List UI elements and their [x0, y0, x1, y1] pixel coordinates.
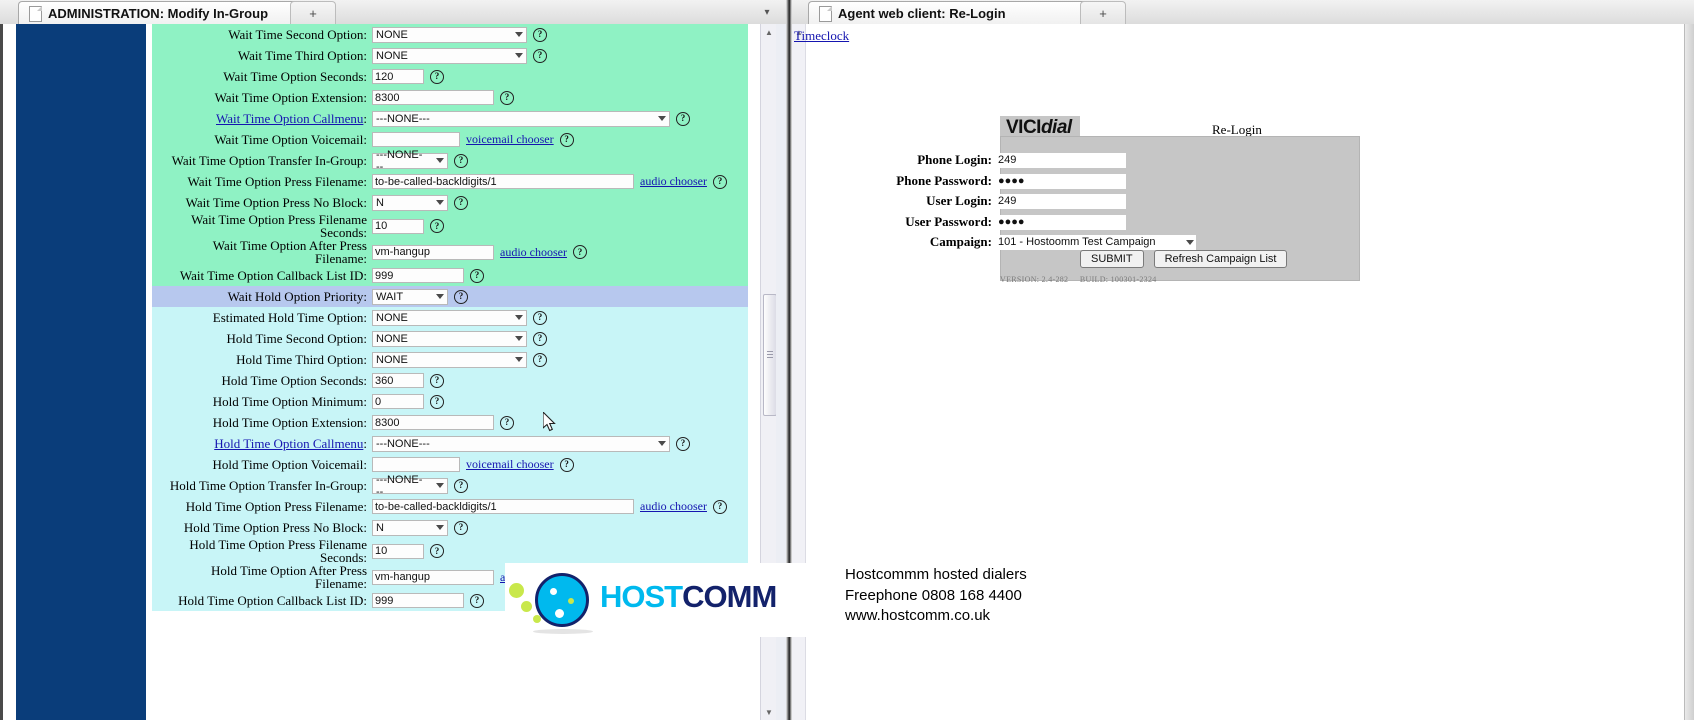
plus-icon: +	[309, 6, 317, 21]
form-row: Wait Time Option Seconds:?	[152, 66, 748, 87]
field-control: ---NONE---?	[372, 153, 748, 169]
audio-chooser-link[interactable]: audio chooser	[500, 245, 567, 260]
window-left-edge	[0, 24, 16, 720]
wordmark-host: HOST	[600, 579, 682, 614]
chevron-down-icon	[436, 483, 444, 488]
field-control: voicemail chooser?	[372, 457, 748, 472]
form-row: Wait Time Option Press Filename:audio ch…	[152, 171, 748, 192]
audio-chooser-link[interactable]: audio chooser	[640, 174, 707, 189]
chevron-down-icon	[515, 315, 523, 320]
help-icon[interactable]: ?	[500, 91, 514, 105]
field-label: Hold Time Second Option:	[152, 332, 372, 346]
help-icon[interactable]: ?	[470, 594, 484, 608]
select-hold-time-third-option[interactable]: NONE	[372, 352, 527, 368]
tab-title: Agent web client: Re-Login	[838, 6, 1006, 21]
field-label: Hold Time Option Press FilenameSeconds:	[152, 538, 372, 564]
in-group-settings-form: Wait Time Second Option:NONE?Wait Time T…	[152, 24, 760, 611]
help-icon[interactable]: ?	[454, 196, 468, 210]
field-control: voicemail chooser?	[372, 132, 748, 147]
field-control: NONE?	[372, 352, 748, 368]
window-right-edge	[1684, 24, 1694, 720]
input-hold-time-option-voicemail[interactable]	[372, 457, 460, 472]
help-icon[interactable]: ?	[560, 458, 574, 472]
relogin-field-row: Phone Login:249	[792, 152, 1126, 168]
field-label[interactable]: Hold Time Option Callmenu:	[152, 437, 372, 451]
form-row: Hold Time Option Minimum:?	[152, 391, 748, 412]
relogin-field-row: User Login:249	[792, 193, 1126, 209]
logo-sphere-icon	[535, 573, 589, 627]
select-hold-time-option-callmenu[interactable]: ---NONE---	[372, 436, 670, 452]
page-icon	[29, 6, 42, 22]
field-label: Wait Time Option Callback List ID:	[152, 269, 372, 283]
field-label[interactable]: Wait Time Option Callmenu:	[152, 112, 372, 126]
input-hold-time-option-press-filename-seconds[interactable]	[372, 544, 424, 559]
field-label: Hold Time Option After PressFilename:	[152, 564, 372, 590]
form-row: Hold Time Option Press Filename:audio ch…	[152, 496, 748, 517]
field-label: Wait Time Third Option:	[152, 49, 372, 63]
field-control: ---NONE---?	[372, 111, 748, 127]
tab-overflow-icon[interactable]: ▾	[758, 4, 776, 20]
field-control: ?	[372, 90, 748, 105]
field-label: Hold Time Option Extension:	[152, 416, 372, 430]
relogin-field-row: Phone Password:●●●●	[792, 173, 1126, 189]
field-label: Hold Time Option Callback List ID:	[152, 594, 372, 608]
field-control: ?	[372, 544, 748, 559]
field-control: NONE?	[372, 331, 748, 347]
select-value: N	[376, 197, 394, 209]
field-control: ---NONE---?	[372, 436, 748, 452]
promo-line-1: Hostcommm hosted dialers	[845, 565, 1027, 586]
field-control: N?	[372, 520, 748, 536]
voicemail-chooser-link[interactable]: voicemail chooser	[466, 457, 554, 472]
chevron-down-icon	[436, 525, 444, 530]
select-wait-time-second-option[interactable]: NONE	[372, 27, 527, 43]
field-label: Wait Time Option Transfer In-Group:	[152, 154, 372, 168]
audio-chooser-link[interactable]: audio chooser	[640, 499, 707, 514]
field-label: Phone Password:	[792, 173, 996, 189]
input-hold-time-option-after-press-filename[interactable]	[372, 570, 494, 585]
help-icon[interactable]: ?	[430, 395, 444, 409]
form-row: Wait Time Option After PressFilename:aud…	[152, 239, 748, 265]
voicemail-chooser-link[interactable]: voicemail chooser	[466, 132, 554, 147]
input-wait-time-option-press-filename[interactable]	[372, 174, 634, 189]
promo-contact-text: Hostcommm hosted dialers Freephone 0808 …	[845, 565, 1027, 627]
form-row: Wait Time Option Press No Block:N?	[152, 192, 748, 213]
screen-root: ADMINISTRATION: Modify In-Group + ▾ Agen…	[0, 0, 1694, 720]
help-icon[interactable]: ?	[533, 28, 547, 42]
form-row: Wait Time Option Extension:?	[152, 87, 748, 108]
input-user-login[interactable]: 249	[996, 194, 1126, 209]
field-control: ?	[372, 415, 748, 430]
help-icon[interactable]: ?	[470, 269, 484, 283]
help-icon[interactable]: ?	[454, 521, 468, 535]
wordmark-comm: COMM	[682, 579, 776, 614]
tabstrip-filler	[1128, 1, 1674, 23]
select-value: NONE	[376, 312, 418, 324]
select-hold-time-option-transfer-in-group[interactable]: ---NONE---	[372, 478, 448, 494]
select-value: ---NONE---	[376, 113, 440, 125]
select-hold-time-second-option[interactable]: NONE	[372, 331, 527, 347]
input-wait-time-option-voicemail[interactable]	[372, 132, 460, 147]
tab-administration[interactable]: ADMINISTRATION: Modify In-Group	[18, 1, 308, 25]
form-row: Hold Time Option Transfer In-Group:---NO…	[152, 475, 748, 496]
chevron-down-icon	[436, 294, 444, 299]
field-label: Hold Time Option Press No Block:	[152, 521, 372, 535]
chevron-down-icon	[515, 357, 523, 362]
field-label: Hold Time Option Voicemail:	[152, 458, 372, 472]
field-label: Wait Time Option Voicemail:	[152, 133, 372, 147]
chevron-down-icon	[436, 158, 444, 163]
select-wait-time-option-press-no-block[interactable]: N	[372, 195, 448, 211]
tab-agent-web-client[interactable]: Agent web client: Re-Login	[808, 1, 1098, 25]
help-icon[interactable]: ?	[676, 437, 690, 451]
field-label: Wait Time Option Press FilenameSeconds:	[152, 213, 372, 239]
form-row: Hold Time Option Press No Block:N?	[152, 517, 748, 538]
select-wait-time-option-transfer-in-group[interactable]: ---NONE---	[372, 153, 448, 169]
field-label: Wait Time Option Press Filename:	[152, 175, 372, 189]
select-estimated-hold-time-option[interactable]: NONE	[372, 310, 527, 326]
field-label: Wait Time Option Seconds:	[152, 70, 372, 84]
field-label: Wait Time Second Option:	[152, 28, 372, 42]
help-icon[interactable]: ?	[573, 245, 587, 259]
form-row: Wait Time Option Callmenu:---NONE---?	[152, 108, 748, 129]
relogin-button-row: SUBMIT Refresh Campaign List	[1080, 250, 1287, 268]
field-label: User Password:	[792, 214, 996, 230]
relogin-field-row: Campaign:101 - Hostoomm Test Campaign	[792, 234, 1196, 250]
form-row: Hold Time Option Extension:?	[152, 412, 748, 433]
field-control: ?	[372, 69, 748, 84]
field-label: Hold Time Option Press Filename:	[152, 500, 372, 514]
select-value: ---NONE---	[376, 474, 436, 498]
chevron-down-icon	[658, 441, 666, 446]
logo-dial: dial	[1041, 117, 1072, 138]
field-label: Hold Time Option Seconds:	[152, 374, 372, 388]
field-control: NONE?	[372, 27, 748, 43]
form-row: Hold Time Option Voicemail:voicemail cho…	[152, 454, 748, 475]
select-value: NONE	[376, 29, 418, 41]
input-hold-time-option-seconds[interactable]	[372, 373, 424, 388]
field-label: Phone Login:	[792, 152, 996, 168]
form-row: Wait Hold Option Priority:WAIT?	[152, 286, 748, 307]
select-value: NONE	[376, 354, 418, 366]
form-row: Estimated Hold Time Option:NONE?	[152, 307, 748, 328]
logo-dot-large	[509, 583, 524, 598]
sphere-highlight-3	[555, 609, 564, 618]
field-label: Wait Hold Option Priority:	[152, 290, 372, 304]
chevron-down-icon	[436, 200, 444, 205]
help-icon[interactable]: ?	[430, 374, 444, 388]
campaign-select[interactable]: 101 - Hostoomm Test Campaign	[996, 235, 1196, 250]
form-row: Hold Time Third Option:NONE?	[152, 349, 748, 370]
select-value: NONE	[376, 50, 418, 62]
field-control: NONE?	[372, 48, 748, 64]
field-control: NONE?	[372, 310, 748, 326]
chevron-down-icon	[515, 336, 523, 341]
field-label: Hold Time Option Transfer In-Group:	[152, 479, 372, 493]
input-hold-time-option-press-filename[interactable]	[372, 499, 634, 514]
field-label: Campaign:	[792, 234, 996, 250]
logo-dot-medium	[521, 601, 532, 612]
select-wait-time-third-option[interactable]: NONE	[372, 48, 527, 64]
hostcomm-wordmark: HOSTCOMM	[600, 581, 776, 612]
field-control: WAIT?	[372, 289, 748, 305]
field-label: Hold Time Third Option:	[152, 353, 372, 367]
input-phone-login[interactable]: 249	[996, 153, 1126, 168]
field-control: audio chooser?	[372, 499, 748, 514]
browser-tabstrip: ADMINISTRATION: Modify In-Group + ▾ Agen…	[0, 0, 1694, 25]
help-icon[interactable]: ?	[560, 133, 574, 147]
field-label: Hold Time Option Minimum:	[152, 395, 372, 409]
page-icon	[819, 6, 832, 22]
promo-line-3: www.hostcomm.co.uk	[845, 606, 1027, 627]
select-value: N	[376, 522, 394, 534]
select-wait-time-option-callmenu[interactable]: ---NONE---	[372, 111, 670, 127]
form-row: Wait Time Third Option:NONE?	[152, 45, 748, 66]
input-hold-time-option-minimum[interactable]	[372, 394, 424, 409]
field-control: ?	[372, 268, 748, 283]
input-hold-time-option-extension[interactable]	[372, 415, 494, 430]
select-wait-hold-option-priority[interactable]: WAIT	[372, 289, 448, 305]
scrollbar-thumb[interactable]	[763, 294, 777, 416]
form-row: Wait Time Second Option:NONE?	[152, 24, 748, 45]
input-wait-time-option-callback-list-id[interactable]	[372, 268, 464, 283]
relogin-field-row: User Password:●●●●	[792, 214, 1126, 230]
help-icon[interactable]: ?	[454, 290, 468, 304]
help-icon[interactable]: ?	[533, 332, 547, 346]
field-control: ?	[372, 373, 748, 388]
select-value: NONE	[376, 333, 418, 345]
form-row: Hold Time Second Option:NONE?	[152, 328, 748, 349]
form-row: Wait Time Option Callback List ID:?	[152, 265, 748, 286]
chevron-down-icon	[515, 53, 523, 58]
help-icon[interactable]: ?	[454, 479, 468, 493]
admin-nav-column	[16, 24, 146, 720]
help-icon[interactable]: ?	[533, 49, 547, 63]
help-icon[interactable]: ?	[533, 311, 547, 325]
logo-shadow	[533, 629, 593, 634]
mouse-cursor	[543, 412, 559, 434]
field-control: ---NONE---?	[372, 478, 748, 494]
help-icon[interactable]: ?	[430, 219, 444, 233]
new-tab-button-left[interactable]: +	[290, 1, 336, 25]
submit-button[interactable]: SUBMIT	[1080, 250, 1144, 268]
select-hold-time-option-press-no-block[interactable]: N	[372, 520, 448, 536]
help-icon[interactable]: ?	[713, 175, 727, 189]
form-row: Hold Time Option Press FilenameSeconds:?	[152, 538, 748, 564]
chevron-down-icon	[515, 32, 523, 37]
scroll-up-icon[interactable]: ▲	[763, 26, 775, 38]
select-value: WAIT	[376, 291, 413, 303]
version-build-text: VERSION: 2.4-282 BUILD: 100301-2324	[1000, 275, 1157, 284]
input-wait-time-option-seconds[interactable]	[372, 69, 424, 84]
chevron-down-icon	[658, 116, 666, 121]
field-label: Wait Time Option Press No Block:	[152, 196, 372, 210]
timeclock-link[interactable]: Timeclock	[794, 28, 849, 44]
scroll-down-icon[interactable]: ▼	[763, 706, 775, 718]
field-control: ?	[372, 219, 748, 234]
field-label: Wait Time Option Extension:	[152, 91, 372, 105]
select-value: ---NONE---	[376, 149, 436, 173]
help-icon[interactable]: ?	[676, 112, 690, 126]
field-label: Wait Time Option After PressFilename:	[152, 239, 372, 265]
refresh-campaign-list-button[interactable]: Refresh Campaign List	[1154, 250, 1288, 268]
help-icon[interactable]: ?	[430, 70, 444, 84]
select-value: ---NONE---	[376, 438, 440, 450]
input-user-password[interactable]: ●●●●	[996, 215, 1126, 230]
field-control: audio chooser?	[372, 245, 748, 260]
form-row: Wait Time Option Transfer In-Group:---NO…	[152, 150, 748, 171]
form-row: Wait Time Option Voicemail:voicemail cho…	[152, 129, 748, 150]
new-tab-button-right[interactable]: +	[1080, 1, 1126, 25]
sphere-highlight-1	[550, 588, 557, 595]
chevron-down-icon	[1186, 240, 1194, 245]
help-icon[interactable]: ?	[430, 544, 444, 558]
field-control: N?	[372, 195, 748, 211]
sphere-highlight-2	[568, 598, 574, 604]
form-row: Hold Time Option Callmenu:---NONE---?	[152, 433, 748, 454]
help-icon[interactable]: ?	[533, 353, 547, 367]
field-control: ?	[372, 394, 748, 409]
input-hold-time-option-callback-list-id[interactable]	[372, 593, 464, 608]
field-control: audio chooser?	[372, 174, 748, 189]
form-row: Hold Time Option Seconds:?	[152, 370, 748, 391]
input-wait-time-option-extension[interactable]	[372, 90, 494, 105]
help-icon[interactable]: ?	[454, 154, 468, 168]
plus-icon: +	[1099, 6, 1107, 21]
logo-vici: VICI	[1006, 117, 1041, 138]
form-row: Wait Time Option Press FilenameSeconds:?	[152, 213, 748, 239]
tab-title: ADMINISTRATION: Modify In-Group	[48, 6, 268, 21]
help-icon[interactable]: ?	[713, 500, 727, 514]
help-icon[interactable]: ?	[500, 416, 514, 430]
input-wait-time-option-after-press-filename[interactable]	[372, 245, 494, 260]
input-wait-time-option-press-filename-seconds[interactable]	[372, 219, 424, 234]
field-label: User Login:	[792, 193, 996, 209]
hostcomm-logo: HOSTCOMM	[505, 565, 775, 635]
promo-line-2: Freephone 0808 168 4400	[845, 586, 1027, 607]
input-phone-password[interactable]: ●●●●	[996, 174, 1126, 189]
field-label: Estimated Hold Time Option:	[152, 311, 372, 325]
